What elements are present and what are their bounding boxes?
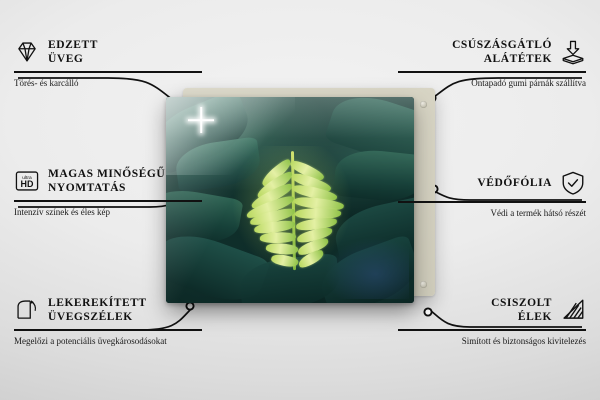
ultra-hd-icon: ultra HD [14, 168, 40, 194]
divider [14, 71, 202, 73]
svg-text:HD: HD [21, 179, 34, 189]
divider [398, 201, 586, 203]
feature-subtitle: Öntapadó gumi párnák szállítva [398, 77, 586, 89]
feature-anti-slip-pads: CSÚSZÁSGÁTLÓ ALÁTÉTEK Öntapadó gumi párn… [398, 38, 586, 89]
feature-title-line1: EDZETT [48, 38, 98, 52]
feature-title-line1: VÉDŐFÓLIA [477, 176, 552, 190]
feature-protective-film: VÉDŐFÓLIA Védi a termék hátsó részét [398, 170, 586, 219]
shield-check-icon [560, 170, 586, 196]
divider [398, 71, 586, 73]
feature-subtitle: Törés- és karcálló [14, 77, 202, 89]
feature-subtitle: Megelőzi a potenciális üvegkárosodásokat [14, 335, 202, 347]
feature-subtitle: Simított és biztonságos kivitelezés [398, 335, 586, 347]
mounting-screw [420, 101, 427, 108]
divider [14, 200, 202, 202]
divider [14, 329, 202, 331]
feature-polished-edges: CSISZOLT ÉLEK Simított és biztonságos ki… [398, 296, 586, 347]
feature-title-line2: NYOMTATÁS [48, 181, 165, 195]
feature-title-line1: MAGAS MINŐSÉGŰ [48, 167, 165, 181]
feature-title-line2: ÜVEGSZÉLEK [48, 310, 147, 324]
feature-tempered-glass: EDZETT ÜVEG Törés- és karcálló [14, 38, 202, 89]
feature-title-line2: ÜVEG [48, 52, 98, 66]
feature-rounded-glass-edges: LEKEREKÍTETT ÜVEGSZÉLEK Megelőzi a poten… [14, 296, 202, 347]
hatched-triangle-icon [560, 297, 586, 323]
feature-title-line2: ALÁTÉTEK [452, 52, 552, 66]
feature-title-line1: CSÚSZÁSGÁTLÓ [452, 38, 552, 52]
feature-subtitle: Intenzív színek és éles kép [14, 206, 202, 218]
feature-title-line2: ÉLEK [491, 310, 552, 324]
highlight-monstera-leaf [236, 147, 353, 274]
press-pad-icon [560, 39, 586, 65]
divider [398, 329, 586, 331]
glass-board-artwork [166, 97, 414, 303]
mounting-screw [420, 281, 427, 288]
feature-title-line1: LEKEREKÍTETT [48, 296, 147, 310]
feature-high-quality-print: ultra HD MAGAS MINŐSÉGŰ NYOMTATÁS Intenz… [14, 167, 202, 218]
feature-subtitle: Védi a termék hátsó részét [398, 207, 586, 219]
product-infographic: EDZETT ÜVEG Törés- és karcálló ultra HD … [0, 0, 600, 400]
rounded-corner-icon [14, 297, 40, 323]
diamond-icon [14, 39, 40, 65]
feature-title-line1: CSISZOLT [491, 296, 552, 310]
